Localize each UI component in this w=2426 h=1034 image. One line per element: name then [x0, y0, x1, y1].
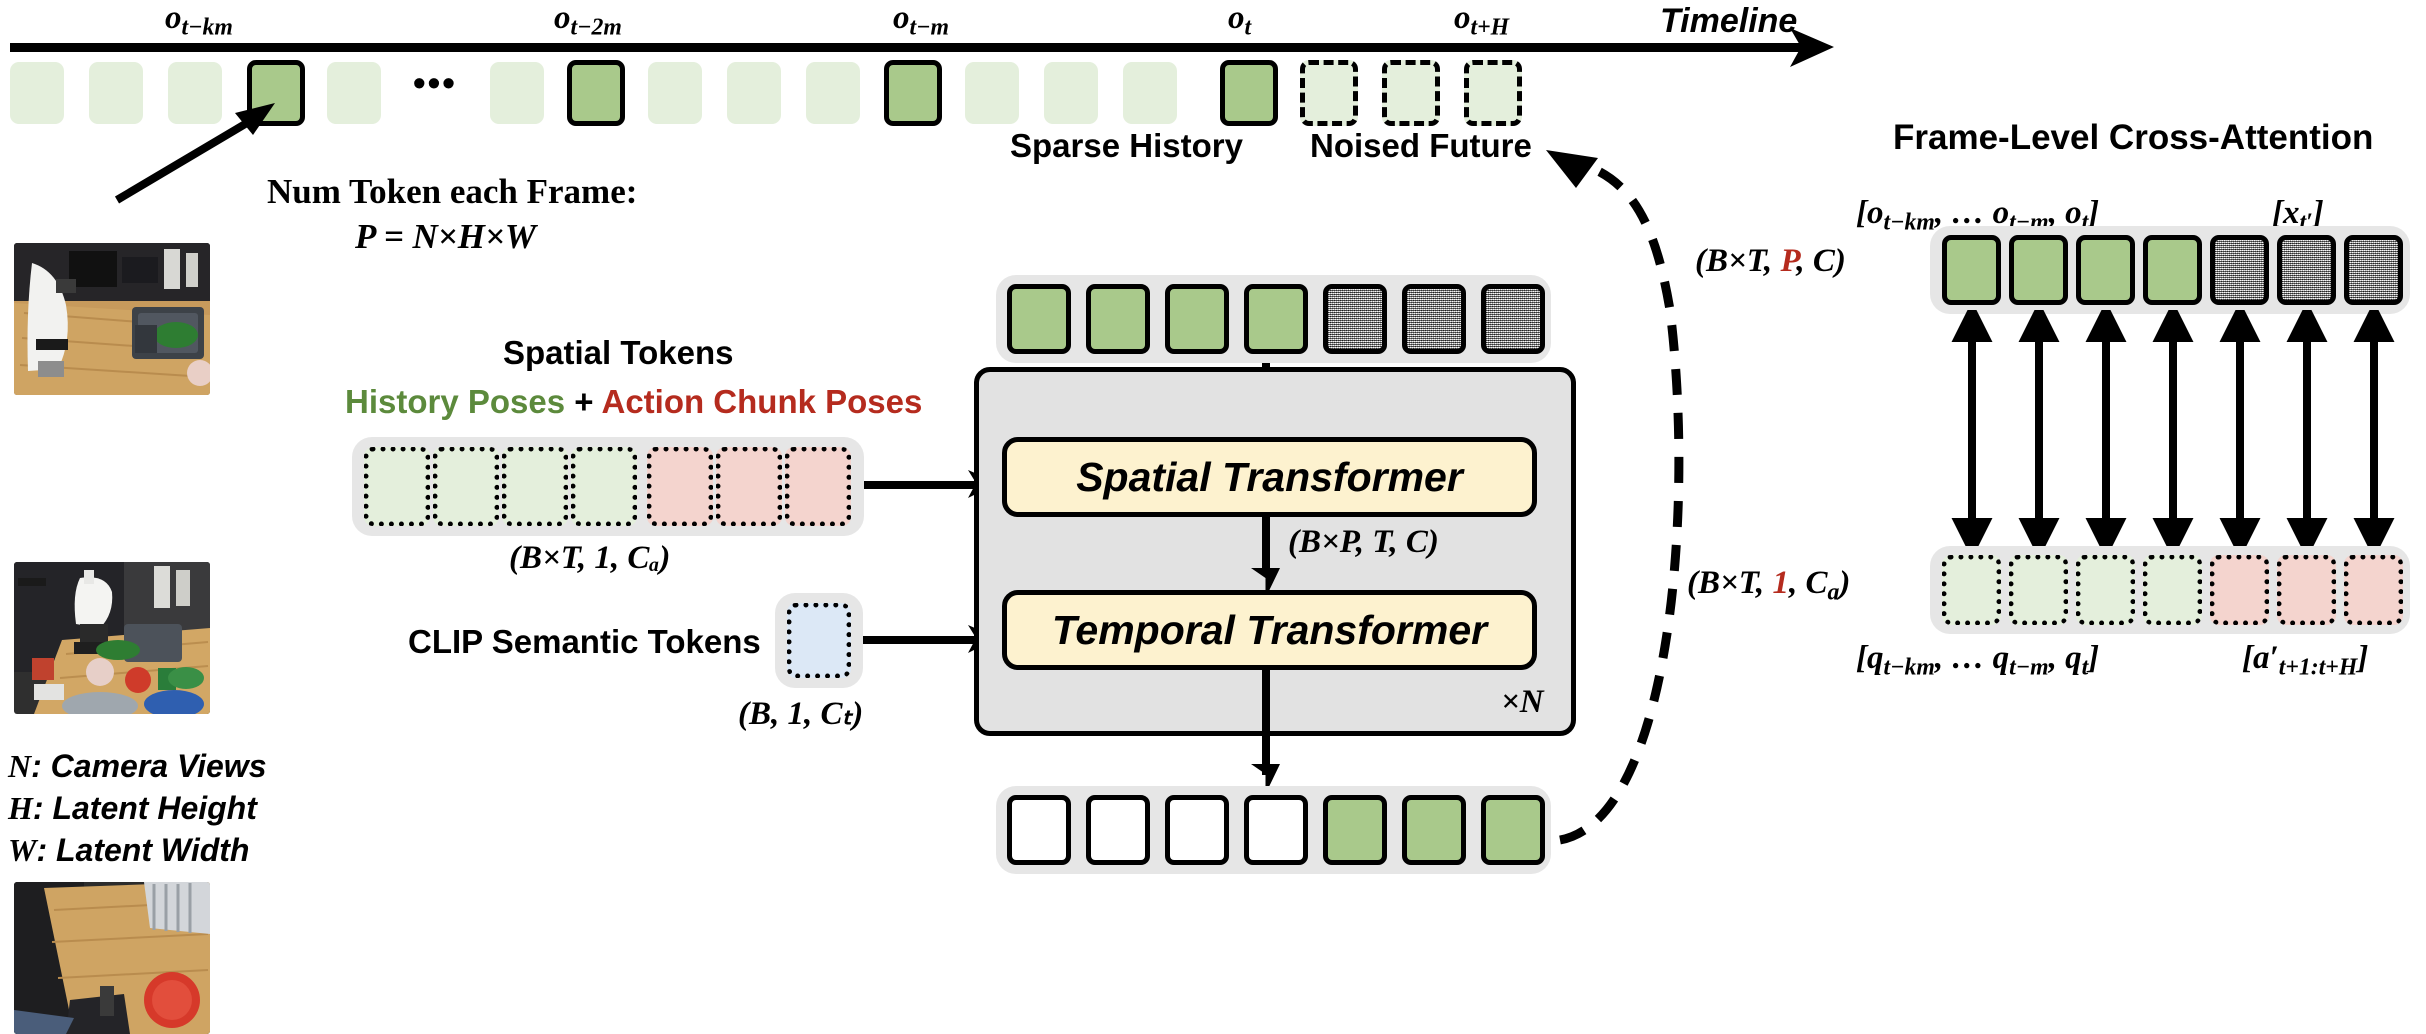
- timeline-label: Timeline: [1660, 2, 1797, 41]
- ca-top-token[interactable]: [2009, 235, 2068, 305]
- camera-view-3: [14, 882, 210, 1034]
- output-token-blank[interactable]: [1007, 795, 1071, 865]
- num-token-formula: P = N×H×W: [355, 217, 536, 257]
- noised-future-label: Noised Future: [1310, 127, 1532, 165]
- spatial-token[interactable]: [433, 447, 499, 526]
- clip-tokens-connector: [863, 636, 974, 644]
- subtitle-history-poses: History Poses: [345, 383, 565, 420]
- timeline-frame[interactable]: [727, 62, 781, 124]
- subtitle-plus: +: [565, 383, 601, 420]
- timeline-ellipsis: •••: [413, 62, 457, 104]
- noise-token[interactable]: [1402, 284, 1466, 354]
- ca-bottom-action-token[interactable]: [2277, 555, 2336, 625]
- feedback-dashed-arrow: [1520, 80, 1710, 870]
- history-token[interactable]: [1007, 284, 1071, 354]
- clip-tokens-label: CLIP Semantic Tokens: [408, 623, 761, 661]
- ca-bottom-token[interactable]: [1942, 555, 2001, 625]
- legend-item-w: W: Latent Width: [8, 832, 249, 869]
- action-token[interactable]: [785, 447, 851, 526]
- legend-symbol: H: [8, 790, 33, 826]
- timeline-frame[interactable]: [965, 62, 1019, 124]
- history-token[interactable]: [1086, 284, 1150, 354]
- timeline-frame-current[interactable]: [1220, 60, 1278, 126]
- legend-item-h: H: Latent Height: [8, 790, 257, 827]
- timeline-frame[interactable]: [490, 62, 544, 124]
- shape-bottom-highlight: 1: [1772, 565, 1789, 601]
- shape-top-highlight: P: [1780, 243, 1796, 279]
- cross-attention-bottom-label-right: [a′t+1:t+H]: [2242, 640, 2368, 682]
- spatial-tokens-title: Spatial Tokens: [503, 334, 733, 372]
- ca-top-token[interactable]: [1942, 235, 2001, 305]
- spatial-tokens-connector: [864, 481, 974, 489]
- spatial-token[interactable]: [502, 447, 568, 526]
- legend-symbol: W: [8, 832, 36, 868]
- timeline-frame-selected[interactable]: [884, 60, 942, 126]
- output-token-blank[interactable]: [1244, 795, 1308, 865]
- timeline-frame[interactable]: [648, 62, 702, 124]
- network-block: [974, 367, 1576, 736]
- timeline-frame[interactable]: [327, 62, 381, 124]
- output-token-blank[interactable]: [1165, 795, 1229, 865]
- action-token[interactable]: [647, 447, 713, 526]
- spatial-tokens-subtitle: History Poses + Action Chunk Poses: [345, 383, 922, 421]
- legend-text: : Latent Height: [33, 790, 257, 826]
- spatial-token[interactable]: [364, 447, 430, 526]
- legend-item-n: N: Camera Views: [8, 748, 266, 785]
- cross-attention-bottom-label-left: [qt−km, … qt−m, qt]: [1856, 640, 2099, 682]
- output-token-predicted[interactable]: [1402, 795, 1466, 865]
- ca-top-noise-token[interactable]: [2277, 235, 2336, 305]
- ca-bottom-token[interactable]: [2009, 555, 2068, 625]
- sparse-history-label: Sparse History: [1010, 127, 1243, 165]
- cross-attention-title: Frame-Level Cross-Attention: [1893, 118, 2373, 158]
- ca-top-noise-token[interactable]: [2344, 235, 2403, 305]
- ca-top-token[interactable]: [2143, 235, 2202, 305]
- num-token-arrow: [105, 95, 285, 205]
- camera-view-1: [14, 243, 210, 395]
- noise-token[interactable]: [1323, 284, 1387, 354]
- timeline-frame[interactable]: [10, 62, 64, 124]
- timeline-tick-label-3: ot: [1228, 0, 1251, 42]
- history-token[interactable]: [1165, 284, 1229, 354]
- spatial-transformer-block[interactable]: Spatial Transformer: [1002, 437, 1537, 517]
- timeline-frame-future[interactable]: [1464, 60, 1522, 126]
- num-token-caption: Num Token each Frame:: [267, 172, 637, 212]
- spatial-token[interactable]: [571, 447, 637, 526]
- ca-bottom-token[interactable]: [2076, 555, 2135, 625]
- network-to-output-line: [1262, 670, 1270, 775]
- timeline-frame[interactable]: [806, 62, 860, 124]
- cross-attention-shape-bottom: (B×T, 1, Ca): [1687, 565, 1850, 607]
- ca-bottom-action-token[interactable]: [2344, 555, 2403, 625]
- clip-token[interactable]: [787, 603, 851, 678]
- timeline-tick-label-4: ot+H: [1454, 0, 1509, 42]
- legend-text: : Camera Views: [31, 748, 266, 784]
- shape-mid-label: (B×P, T, C): [1288, 524, 1439, 561]
- timeline-axis: [10, 43, 1808, 52]
- action-token[interactable]: [716, 447, 782, 526]
- timeline-frame-future[interactable]: [1382, 60, 1440, 126]
- ca-top-noise-token[interactable]: [2210, 235, 2269, 305]
- timeline-frame[interactable]: [1044, 62, 1098, 124]
- timeline-frame-selected[interactable]: [567, 60, 625, 126]
- cross-attention-arrows: [1930, 310, 2410, 550]
- ca-top-token[interactable]: [2076, 235, 2135, 305]
- timeline-frame-future[interactable]: [1300, 60, 1358, 126]
- history-token[interactable]: [1244, 284, 1308, 354]
- spatial-tokens-shape: (B×T, 1, Cₐ): [509, 540, 670, 577]
- timeline-frame[interactable]: [1123, 62, 1177, 124]
- timeline-tick-label-1: ot−2m: [554, 0, 622, 42]
- output-token-predicted[interactable]: [1323, 795, 1387, 865]
- ca-bottom-action-token[interactable]: [2210, 555, 2269, 625]
- legend-text: : Latent Width: [36, 832, 249, 868]
- spatial-to-temporal-line: [1262, 517, 1270, 575]
- ca-bottom-token[interactable]: [2143, 555, 2202, 625]
- timeline-tick-label-2: ot−m: [893, 0, 949, 42]
- temporal-transformer-block[interactable]: Temporal Transformer: [1002, 590, 1537, 670]
- camera-view-2: [14, 562, 210, 714]
- cross-attention-shape-top: (B×T, P, C): [1695, 243, 1846, 280]
- output-token-blank[interactable]: [1086, 795, 1150, 865]
- subtitle-action-chunk-poses: Action Chunk Poses: [601, 383, 922, 420]
- clip-tokens-shape: (B, 1, Cₜ): [738, 693, 863, 733]
- timeline-tick-label-0: ot−km: [165, 0, 233, 42]
- legend-symbol: N: [8, 748, 31, 784]
